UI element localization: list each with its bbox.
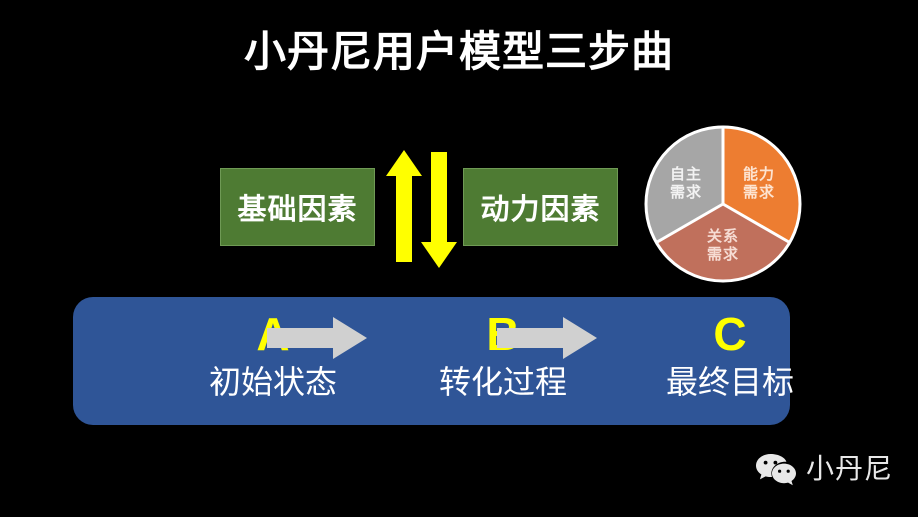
pie-label-autonomy: 自主 需求 — [655, 166, 717, 202]
pie-label-relatedness: 关系 需求 — [692, 228, 754, 264]
yellow-down-arrow-icon — [421, 152, 457, 268]
wechat-icon — [755, 453, 797, 487]
step-arrow-right-icon-2 — [497, 317, 597, 359]
factor-box-basic-label: 基础因素 — [237, 186, 357, 228]
factor-box-drive-label: 动力因素 — [480, 186, 600, 228]
factor-box-basic: 基础因素 — [220, 168, 375, 246]
step-label-a: 初始状态 — [173, 360, 373, 404]
step-arrow-right-icon-1 — [267, 317, 367, 359]
step-letter-c: C — [670, 308, 790, 360]
journey-panel: A B C 初始状态 转化过程 最终目标 — [73, 297, 790, 425]
slide-canvas: 小丹尼用户模型三步曲 基础因素 动力因素 自主 需求 能力 需求 关系 需求 A… — [0, 0, 918, 517]
page-title: 小丹尼用户模型三步曲 — [0, 27, 918, 79]
wechat-account-name: 小丹尼 — [806, 453, 893, 487]
step-label-c: 最终目标 — [630, 360, 830, 404]
step-label-b: 转化过程 — [403, 360, 603, 404]
yellow-up-arrow-icon — [386, 150, 422, 262]
wechat-footer: 小丹尼 — [755, 450, 893, 490]
pie-label-competence: 能力 需求 — [728, 166, 790, 202]
factor-box-drive: 动力因素 — [463, 168, 618, 246]
